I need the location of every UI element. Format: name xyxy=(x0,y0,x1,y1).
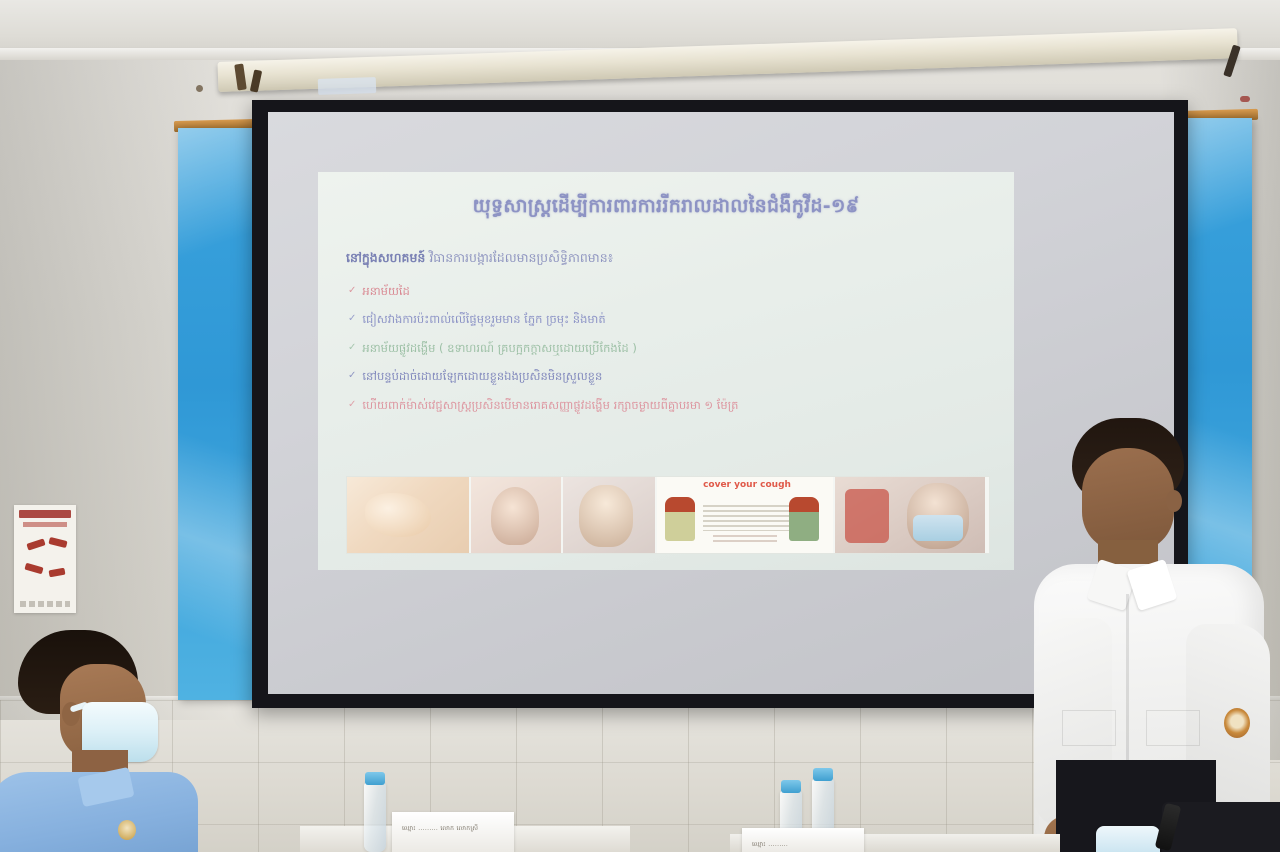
attendee-seated xyxy=(0,630,224,852)
wall-mark-right xyxy=(1240,96,1250,102)
slide-subtitle-bold: នៅក្នុងសហគមន៍ xyxy=(346,250,425,265)
cover-your-cough-poster: cover your cough xyxy=(657,477,835,553)
presenter-pocket-right xyxy=(1146,710,1200,746)
slide-bullet-5: ✓ ហើយពាក់ម៉ាស់វេជ្ជសាស្ត្រប្រសិនបើមានរោគ… xyxy=(348,398,1000,412)
check-icon: ✓ xyxy=(348,312,356,325)
cycle-arrow-2 xyxy=(48,537,67,548)
slide-subtitle: នៅក្នុងសហគមន៍ វិធានការបង្ការដែលមានប្រសិទ… xyxy=(346,250,994,269)
poster-header-bar xyxy=(19,510,71,518)
sneezing-into-tissue-photo xyxy=(563,477,657,553)
slide-bullet-list: ✓ អនាម័យដៃ ✓ ជៀសវាងការប៉ះពាល់លើផ្ទៃមុខរួ… xyxy=(348,284,1000,426)
presenter-pocket-left xyxy=(1062,710,1116,746)
bottle-cap-2 xyxy=(781,780,801,793)
wall-health-poster xyxy=(14,505,76,613)
poster-figure-left xyxy=(665,497,695,541)
cycle-arrow-4 xyxy=(49,568,66,578)
projected-slide: យុទ្ធសាស្ត្រដើម្បីការពារការរីករាលដាលនៃជំ… xyxy=(318,172,1014,570)
cycle-arrow-1 xyxy=(26,538,45,550)
poster-cycle-diagram xyxy=(23,535,67,591)
slide-bullet-3: ✓ អនាម័យផ្លូវដង្ហើម ( ឧទាហរណ៍ គ្របក្អកក្… xyxy=(348,341,1000,355)
surgical-mask-icon xyxy=(913,515,963,541)
wall-mark-left xyxy=(196,85,203,92)
background-red-shape xyxy=(845,489,889,543)
check-icon: ✓ xyxy=(348,341,356,354)
check-icon: ✓ xyxy=(348,369,356,382)
name-card-2-text: ឈ្មោះ ......... xyxy=(752,840,788,849)
slide-bullet-4: ✓ នៅបន្ទប់ដាច់ដោយឡែកដោយខ្លួនឯងប្រសិនមិនស… xyxy=(348,369,1000,383)
slide-bullet-2: ✓ ជៀសវាងការប៉ះពាល់លើផ្ទៃមុខរួមមាន ភ្នែក … xyxy=(348,312,1000,326)
name-card-1-text: ឈ្មោះ ......... លោក លោកស្រី xyxy=(402,824,478,833)
slide-image-strip: cover your cough xyxy=(346,476,990,554)
roller-case-label xyxy=(318,77,376,95)
presenter-face xyxy=(1082,448,1174,552)
name-card-1: ឈ្មោះ ......... លោក លោកស្រី xyxy=(392,812,514,852)
presentation-room-photo: យុទ្ធសាស្ត្រដើម្បីការពារការរីករាលដាលនៃជំ… xyxy=(0,0,1280,852)
slide-title: យុទ្ធសាស្ត្រដើម្បីការពារការរីករាលដាលនៃជំ… xyxy=(318,194,1014,222)
presenter-ear xyxy=(1166,490,1182,512)
held-surgical-mask xyxy=(1096,826,1160,852)
cycle-arrow-3 xyxy=(24,563,43,575)
poster-subheader-bar xyxy=(23,522,67,527)
bottle-cap-1 xyxy=(365,772,385,785)
slide-bullet-1-text: អនាម័យដៃ xyxy=(362,284,409,298)
sneezing-into-hands-photo xyxy=(471,477,563,553)
slide-subtitle-rest: វិធានការបង្ការដែលមានប្រសិទ្ធិភាពមាន៖ xyxy=(429,250,613,265)
poster-footer-line xyxy=(713,535,777,545)
woman-wearing-mask-photo xyxy=(835,477,987,553)
slide-bullet-5-text: ហើយពាក់ម៉ាស់វេជ្ជសាស្ត្រប្រសិនបើមានរោគសញ… xyxy=(362,398,738,412)
bottle-cap-3 xyxy=(813,768,833,781)
poster-figure-right xyxy=(789,497,819,541)
water-bottle-1 xyxy=(364,782,386,852)
slide-bullet-4-text: នៅបន្ទប់ដាច់ដោយឡែកដោយខ្លួនឯងប្រសិនមិនស្រ… xyxy=(362,369,602,383)
blue-banner-left xyxy=(178,128,252,700)
hand-washing-photo xyxy=(347,477,471,553)
presenter-shoulder-patch xyxy=(1224,708,1250,738)
slide-bullet-3-text: អនាម័យផ្លូវដង្ហើម ( ឧទាហរណ៍ គ្របក្អកក្តា… xyxy=(362,341,636,355)
slide-bullet-1: ✓ អនាម័យដៃ xyxy=(348,284,1000,298)
slide-bullet-2-text: ជៀសវាងការប៉ះពាល់លើផ្ទៃមុខរួមមាន ភ្នែក ច្… xyxy=(362,312,605,326)
check-icon: ✓ xyxy=(348,284,356,297)
poster-body-text xyxy=(703,505,789,531)
poster-footer-text xyxy=(20,601,70,607)
cover-your-cough-title: cover your cough xyxy=(701,481,793,490)
attendee-badge xyxy=(118,820,136,840)
name-card-2: ឈ្មោះ ......... xyxy=(742,828,864,852)
check-icon: ✓ xyxy=(348,398,356,411)
